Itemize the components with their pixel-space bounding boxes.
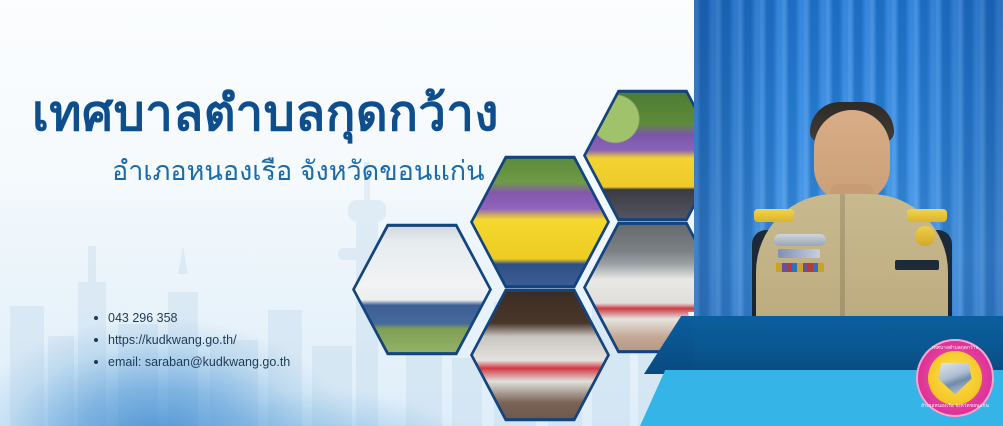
contact-item-phone: 043 296 358 [94,307,290,329]
seal-bottom-text: อำเภอหนองเรือ จังหวัดขอนแก่น [916,404,994,409]
service-ribbons [776,263,824,272]
contact-phone-label: 043 296 358 [108,311,178,325]
bullet-dot-icon [94,338,98,342]
page-subtitle: อำเภอหนองเรือ จังหวัดขอนแก่น [112,158,485,185]
epaulette-left [754,209,794,222]
municipality-banner: เทศบาลตำบลกุดกว้าง อำเภอหนองเรือ จังหวัด… [0,0,1003,426]
municipality-seal[interactable]: เทศบาลตำบลกุดกว้าง อำเภอหนองเรือ จังหวัด… [916,339,994,417]
seal-gold-ring [928,351,982,405]
rank-badge [778,249,820,258]
page-title: เทศบาลตำบลกุดกว้าง [32,90,499,139]
contact-item-website[interactable]: https://kudkwang.go.th/ [94,329,290,351]
contact-email-label[interactable]: email: saraban@kudkwang.go.th [108,355,290,369]
contact-list: 043 296 358 https://kudkwang.go.th/ emai… [54,307,290,373]
seal-emblem-icon [937,360,973,396]
contact-website-label[interactable]: https://kudkwang.go.th/ [108,333,237,347]
gold-insignia-icon [915,226,935,246]
name-tag [895,260,939,270]
bullet-dot-icon [94,360,98,364]
epaulette-right [907,209,947,222]
contact-item-email[interactable]: email: saraban@kudkwang.go.th [94,351,290,373]
wing-insignia-icon [774,234,826,246]
bullet-dot-icon [94,316,98,320]
mayor-portrait: เทศบาลตำบลกุดกว้าง อำเภอหนองเรือ จังหวัด… [694,0,1003,426]
seal-top-text: เทศบาลตำบลกุดกว้าง [916,346,994,351]
